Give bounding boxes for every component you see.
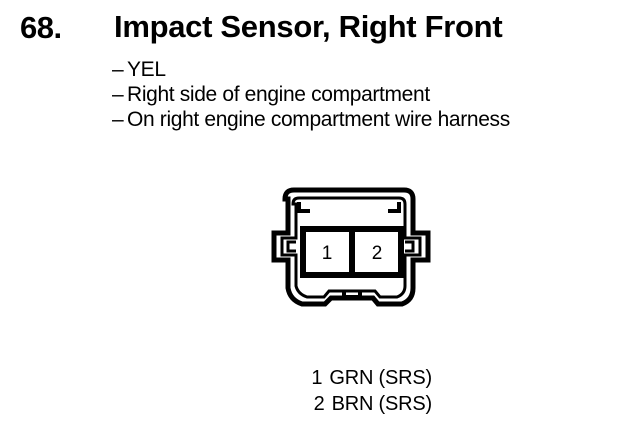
dash-bullet: – — [112, 57, 127, 82]
legend-wire-label: BRN (SRS) — [332, 393, 432, 415]
detail-item: –YEL — [112, 57, 622, 82]
detail-item-label: YEL — [127, 58, 166, 81]
latch-hook-left-icon — [299, 202, 310, 211]
latch-hook-right-icon — [388, 202, 399, 211]
legend-row: 1GRN (SRS) — [232, 365, 432, 391]
page-title: Impact Sensor, Right Front — [114, 7, 502, 47]
detail-item: –Right side of engine compartment — [112, 82, 622, 107]
dash-bullet: – — [112, 82, 127, 107]
detail-item-label: On right engine compartment wire harness — [127, 108, 510, 131]
detail-list: –YEL –Right side of engine compartment –… — [112, 57, 622, 132]
item-number: 68. — [20, 10, 62, 46]
legend-pin-number: 2 — [311, 391, 325, 417]
connector-outline-graphic: 1 2 — [252, 180, 452, 328]
legend-wire-label: GRN (SRS) — [329, 367, 432, 389]
pin-legend: 1GRN (SRS) 2BRN (SRS) — [232, 365, 432, 417]
header: 68. Impact Sensor, Right Front — [0, 6, 640, 50]
pin-cavity-number-1: 1 — [322, 243, 333, 264]
pin-cavity-number-2: 2 — [372, 243, 383, 264]
connector-diagram: 1 2 — [252, 180, 452, 328]
detail-item: –On right engine compartment wire harnes… — [112, 107, 622, 132]
side-tab-left-notch — [288, 242, 296, 251]
legend-row: 2BRN (SRS) — [232, 391, 432, 417]
side-tab-right-notch — [405, 242, 413, 251]
connector-reference-page: 68. Impact Sensor, Right Front –YEL –Rig… — [0, 0, 640, 426]
detail-item-label: Right side of engine compartment — [127, 83, 430, 106]
legend-pin-number: 1 — [308, 365, 322, 391]
dash-bullet: – — [112, 107, 127, 132]
